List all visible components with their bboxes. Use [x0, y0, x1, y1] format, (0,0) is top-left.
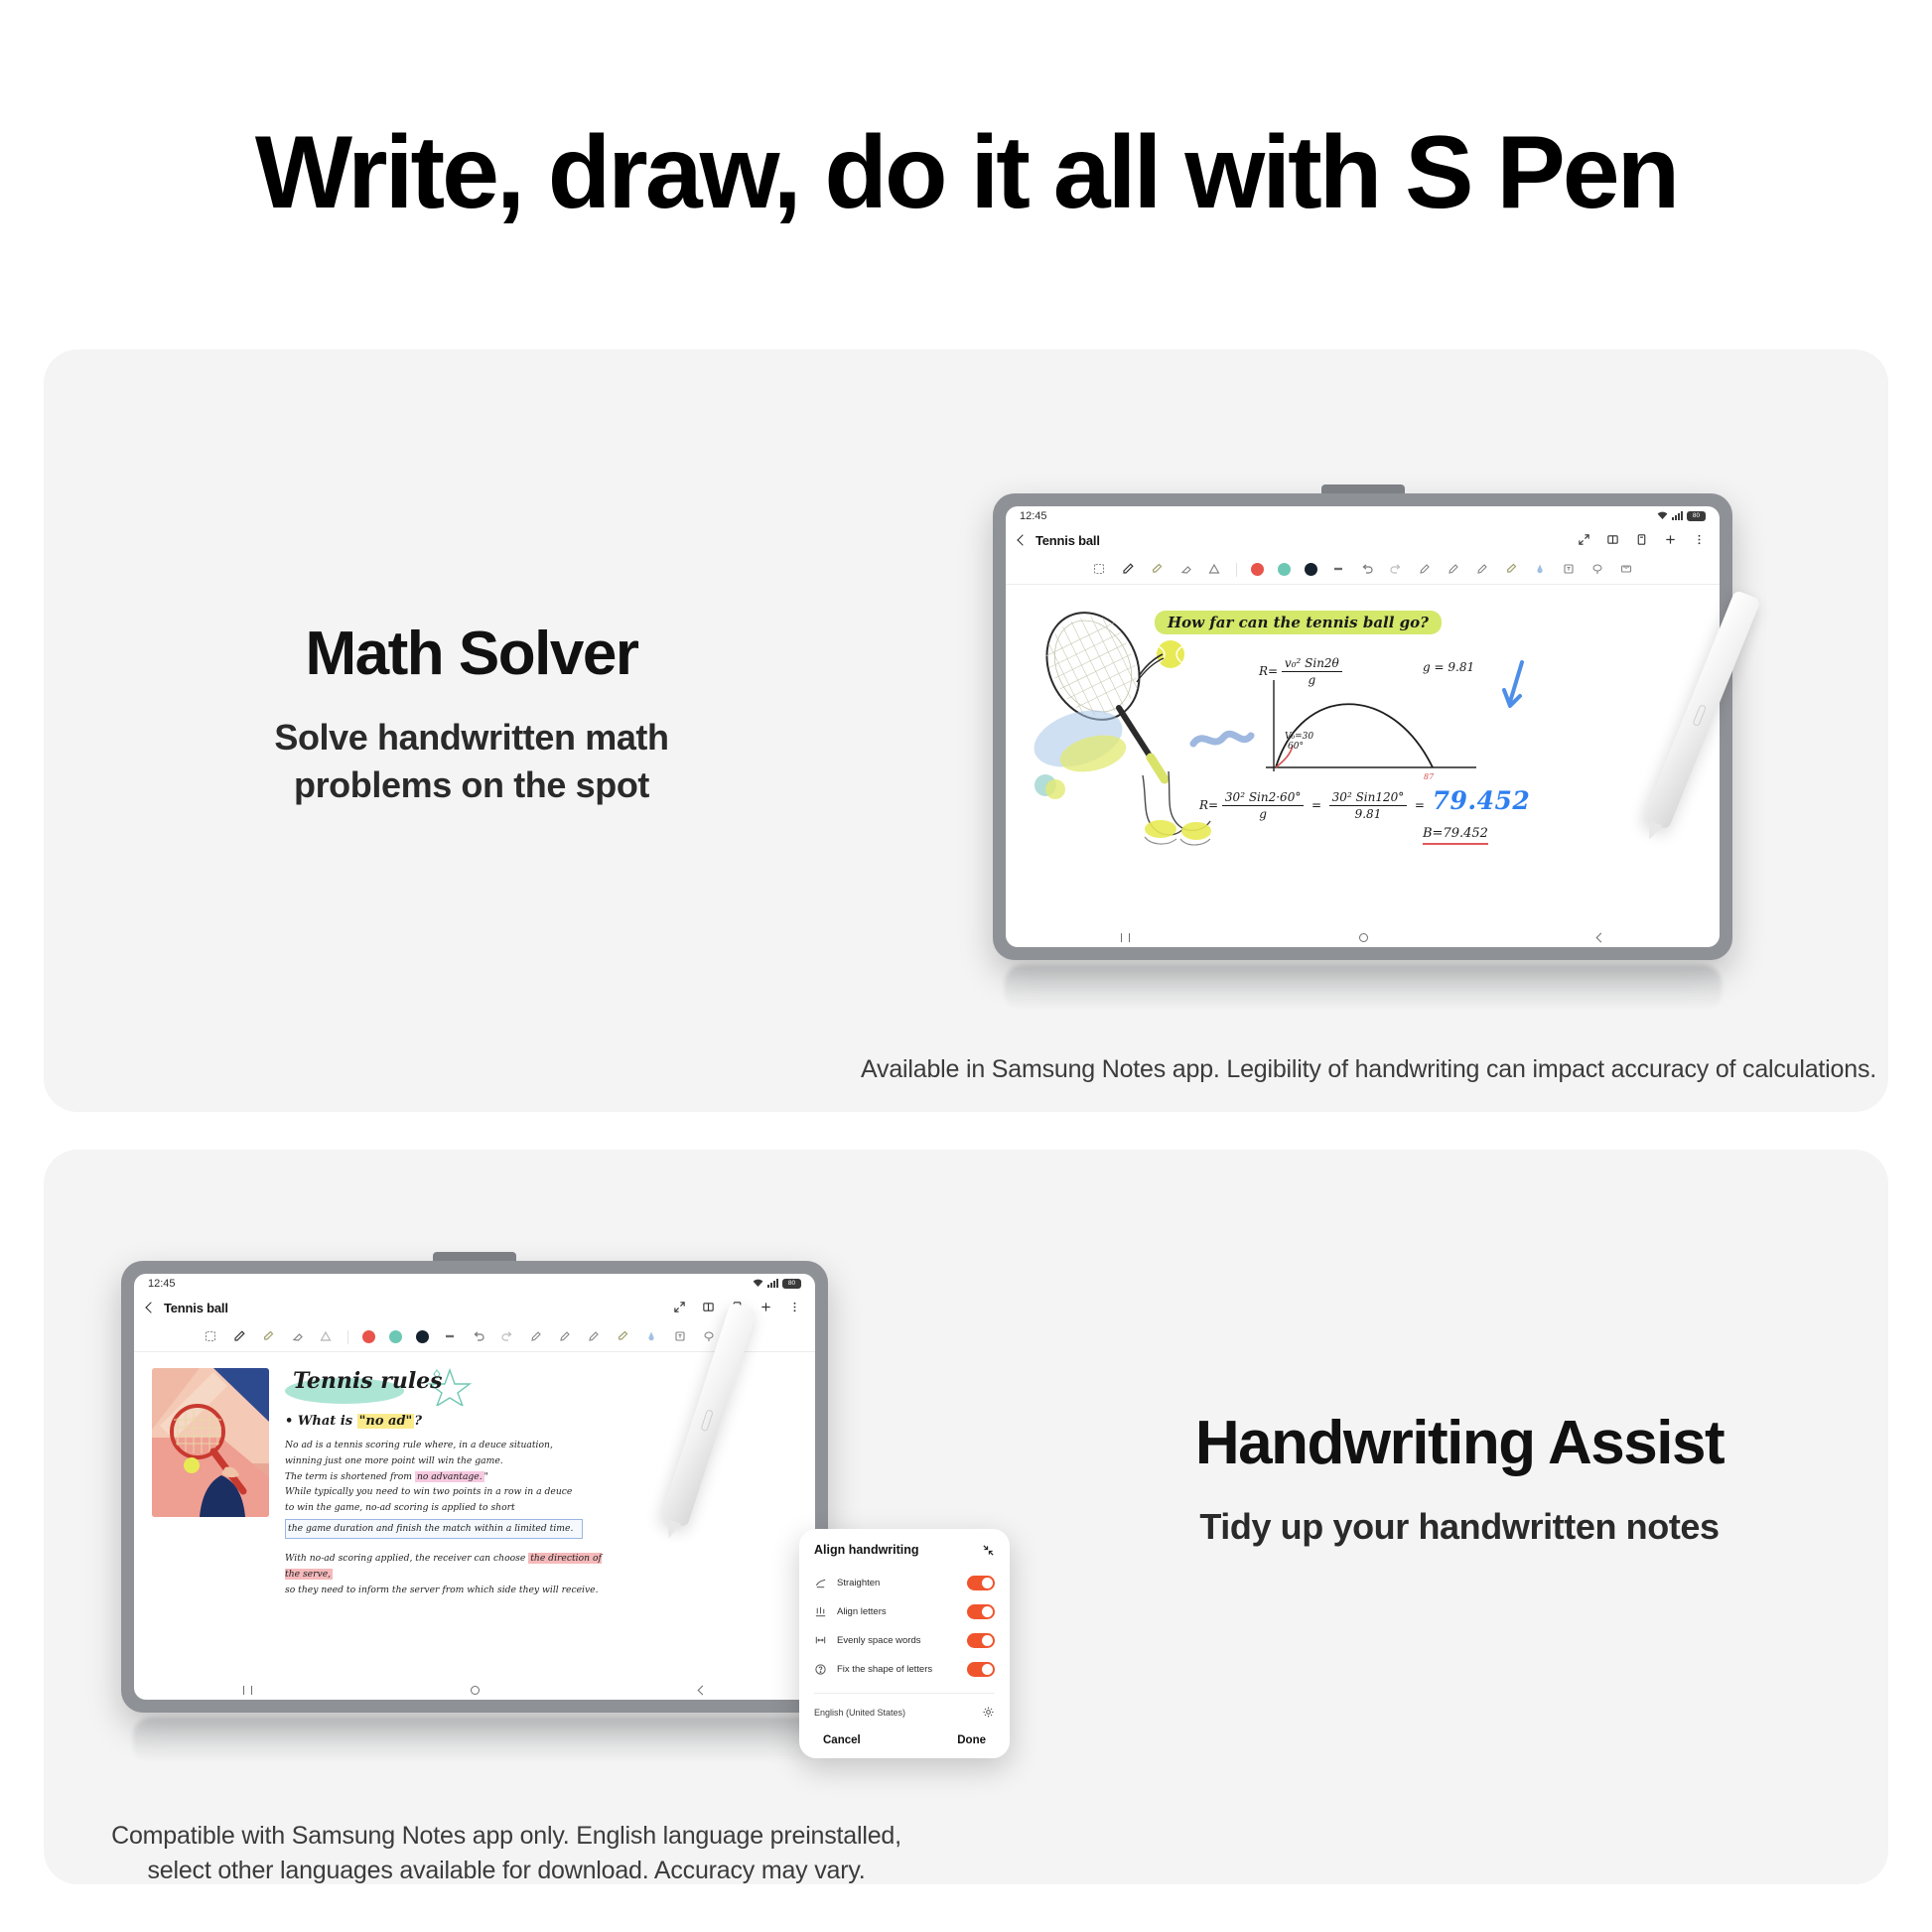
tablet-screen-math: 12:45 80 Tennis ball — [1006, 506, 1720, 947]
expand-icon-2[interactable] — [673, 1301, 687, 1314]
note-header-math: Tennis ball — [1006, 525, 1720, 555]
popup-row-straighten[interactable]: Straighten — [799, 1569, 1010, 1597]
fountain-pen-icon[interactable] — [1533, 562, 1548, 577]
add-icon[interactable] — [1664, 533, 1678, 547]
formula-numerator: v₀² Sin2θ — [1282, 656, 1342, 672]
math-solver-text-block: Math Solver Solve handwritten math probl… — [129, 621, 814, 808]
s-pen-button — [1692, 704, 1707, 727]
note-line-5: to win the game, no-ad scoring is applie… — [285, 1500, 583, 1516]
text-box-icon[interactable] — [1562, 562, 1577, 577]
select-icon-2[interactable] — [204, 1329, 218, 1344]
done-button[interactable]: Done — [957, 1734, 986, 1746]
select-icon[interactable] — [1092, 562, 1107, 577]
handwriting-assist-title: Handwriting Assist — [1067, 1410, 1852, 1477]
note-highlight-phrase: no advantage. — [415, 1471, 484, 1482]
signal-icon-2 — [767, 1279, 778, 1288]
marker-icon-2[interactable] — [616, 1329, 630, 1344]
battery-icon-2: 80 — [782, 1279, 801, 1289]
tablet-reflection-math — [1005, 965, 1722, 1011]
solution-equation: R= 30² Sin2·60° g = 30² Sin120° 9.81 = 7… — [1199, 786, 1530, 821]
back-nav-icon[interactable] — [1596, 932, 1606, 942]
thickness-icon[interactable] — [1331, 562, 1346, 577]
note-header-hw: Tennis ball — [134, 1293, 815, 1322]
equals-2: = — [1411, 798, 1429, 812]
undo-icon-2[interactable] — [472, 1329, 486, 1344]
text-box-icon-2[interactable] — [673, 1329, 688, 1344]
recents-icon[interactable] — [1121, 933, 1130, 942]
add-icon-2[interactable] — [759, 1301, 773, 1314]
toolbar-divider — [1236, 563, 1237, 577]
back-icon[interactable] — [1017, 534, 1028, 545]
solution-result: 79.452 — [1433, 786, 1531, 815]
velocity-label: V₀=30 — [1285, 732, 1313, 742]
ruler-icon[interactable] — [1619, 562, 1634, 577]
tablet-reflection-hw — [133, 1718, 818, 1763]
redo-icon-2[interactable] — [500, 1329, 515, 1344]
toggle-fix-shape[interactable] — [967, 1662, 995, 1677]
toggle-align-letters[interactable] — [967, 1604, 995, 1619]
popup-language-label: English (United States) — [814, 1708, 905, 1718]
color-swatch-black[interactable] — [1305, 563, 1317, 576]
pen-settings-1-icon[interactable] — [1418, 562, 1433, 577]
projectile-graph: 87 — [1262, 676, 1490, 785]
note-heading: Tennis rules — [293, 1368, 443, 1394]
thickness-icon-2[interactable] — [443, 1329, 458, 1344]
s-pen-button-2 — [700, 1409, 713, 1432]
popup-actions: Cancel Done — [799, 1728, 1010, 1750]
split-view-icon-2[interactable] — [702, 1301, 716, 1314]
popup-header: Align handwriting — [799, 1543, 1010, 1569]
redo-icon[interactable] — [1389, 562, 1404, 577]
more-options-icon-2[interactable] — [788, 1301, 802, 1314]
note-toolbar-math — [1006, 555, 1720, 585]
status-indicators-2: 80 — [753, 1279, 801, 1289]
back-nav-icon-2[interactable] — [697, 1685, 707, 1695]
popup-divider — [814, 1693, 995, 1694]
popup-language-row[interactable]: English (United States) — [799, 1698, 1010, 1728]
back-icon-2[interactable] — [145, 1302, 156, 1312]
gear-icon[interactable] — [982, 1706, 995, 1719]
status-time-2: 12:45 — [148, 1278, 176, 1290]
camera-bump-2 — [433, 1252, 516, 1261]
bullet-highlight: "no ad" — [357, 1414, 415, 1429]
signal-icon — [1672, 511, 1683, 520]
pen-settings-3-icon[interactable] — [1475, 562, 1490, 577]
status-bar-hw: 12:45 80 — [134, 1274, 815, 1293]
solution-fraction-1: 30² Sin2·60° g — [1222, 790, 1304, 821]
note-toolbar-hw — [134, 1322, 815, 1352]
tablet-device-math-solver: 12:45 80 Tennis ball — [993, 493, 1732, 960]
home-icon-2[interactable] — [471, 1686, 480, 1695]
velocity-angle-labels: V₀=30 60° — [1285, 732, 1313, 752]
color-swatch-teal[interactable] — [1278, 563, 1291, 576]
align-handwriting-popup: Align handwriting Straighten Align lette… — [799, 1529, 1010, 1758]
highlighter-icon-2[interactable] — [261, 1329, 276, 1344]
wifi-icon — [1657, 511, 1668, 520]
fountain-pen-icon-2[interactable] — [644, 1329, 659, 1344]
more-options-icon[interactable] — [1693, 533, 1707, 547]
recents-icon-2[interactable] — [243, 1686, 252, 1695]
svg-text:87: 87 — [1424, 772, 1435, 781]
bullet-prefix: • What is — [285, 1414, 357, 1429]
note-title-math: Tennis ball — [1035, 533, 1100, 548]
color-swatch-teal-2[interactable] — [389, 1330, 402, 1343]
color-swatch-red-2[interactable] — [362, 1330, 375, 1343]
toggle-straighten[interactable] — [967, 1576, 995, 1590]
shape-icon[interactable] — [1207, 562, 1222, 577]
highlighter-icon[interactable] — [1150, 562, 1165, 577]
bullet-suffix: ? — [414, 1414, 422, 1429]
pen-icon-2[interactable] — [232, 1329, 247, 1344]
solution-num-2: 30² Sin120° — [1329, 790, 1408, 806]
wifi-icon-2 — [753, 1279, 763, 1288]
math-solver-subtitle-line2: problems on the spot — [129, 761, 814, 809]
popup-label-fix-shape: Fix the shape of letters — [837, 1664, 957, 1675]
popup-label-straighten: Straighten — [837, 1578, 957, 1588]
undo-icon[interactable] — [1360, 562, 1375, 577]
nav-bar-hw — [134, 1680, 815, 1700]
note-line-4: While typically you need to win two poin… — [285, 1484, 583, 1500]
marker-icon[interactable] — [1504, 562, 1519, 577]
hw-disclaimer-line2: select other languages available for dow… — [60, 1854, 953, 1888]
angle-label: 60° — [1288, 742, 1313, 752]
note-line-7: so they need to inform the server from w… — [285, 1583, 603, 1598]
color-swatch-black-2[interactable] — [416, 1330, 429, 1343]
solution-den-1: g — [1259, 806, 1267, 821]
tablet-screen-hw: 12:45 80 Tennis ball — [134, 1274, 815, 1700]
solution-boxed-answer: B=79.452 — [1423, 826, 1488, 841]
pen-settings-3-icon-2[interactable] — [587, 1329, 602, 1344]
camera-bump — [1321, 484, 1405, 493]
toggle-evenly-space[interactable] — [967, 1633, 995, 1648]
eraser-icon[interactable] — [1178, 562, 1193, 577]
note-paragraph-2: With no-ad scoring applied, the receiver… — [285, 1551, 603, 1597]
math-solver-subtitle-line1: Solve handwritten math — [129, 714, 814, 761]
pen-settings-2-icon-2[interactable] — [558, 1329, 573, 1344]
equals-1: = — [1308, 798, 1325, 812]
status-indicators: 80 — [1657, 511, 1706, 521]
home-icon[interactable] — [1359, 933, 1368, 942]
math-solver-disclaimer: Available in Samsung Notes app. Legibili… — [784, 1052, 1876, 1087]
note-line-6: With no-ad scoring applied, the receiver… — [285, 1551, 603, 1583]
question-banner: How far can the tennis ball go? — [1155, 611, 1442, 634]
align-letters-icon — [814, 1605, 827, 1618]
collapse-icon[interactable] — [982, 1544, 995, 1557]
eraser-icon-2[interactable] — [290, 1329, 305, 1344]
status-time: 12:45 — [1020, 510, 1047, 522]
solution-boxed-text: B=79.452 — [1423, 826, 1488, 845]
cancel-button[interactable]: Cancel — [823, 1734, 861, 1746]
popup-row-evenly-space[interactable]: Evenly space words — [799, 1626, 1010, 1655]
status-bar-math: 12:45 80 — [1006, 506, 1720, 525]
popup-row-fix-shape[interactable]: Fix the shape of letters — [799, 1655, 1010, 1684]
pen-settings-2-icon[interactable] — [1447, 562, 1461, 577]
solution-den-2: 9.81 — [1355, 806, 1382, 821]
straighten-icon — [814, 1577, 827, 1589]
math-solver-subtitle: Solve handwritten math problems on the s… — [129, 714, 814, 808]
popup-title: Align handwriting — [814, 1543, 919, 1557]
note-line-1: No ad is a tennis scoring rule where, in… — [285, 1438, 583, 1453]
handwriting-assist-text-block: Handwriting Assist Tidy up your handwrit… — [1067, 1410, 1852, 1551]
battery-icon: 80 — [1687, 511, 1706, 521]
pen-icon[interactable] — [1121, 562, 1136, 577]
save-icon[interactable] — [1635, 533, 1649, 547]
math-solver-title: Math Solver — [129, 621, 814, 688]
tennis-illustration — [152, 1368, 269, 1517]
lasso-icon[interactable] — [1590, 562, 1605, 577]
note-title-hw: Tennis ball — [164, 1301, 228, 1315]
fix-shape-icon — [814, 1663, 827, 1676]
popup-row-align-letters[interactable]: Align letters — [799, 1597, 1010, 1626]
solution-fraction-2: 30² Sin120° 9.81 — [1329, 790, 1408, 821]
toolbar-divider-2 — [347, 1330, 348, 1344]
lasso-icon-2[interactable] — [702, 1329, 717, 1344]
tennis-ball-doodle — [1135, 632, 1204, 688]
hw-disclaimer-line1: Compatible with Samsung Notes app only. … — [60, 1819, 953, 1854]
gravity-value: g = 9.81 — [1423, 660, 1474, 674]
note-bullet-question: • What is "no ad"? — [285, 1414, 422, 1429]
split-view-icon[interactable] — [1606, 533, 1620, 547]
popup-label-align-letters: Align letters — [837, 1606, 957, 1617]
selected-text-line[interactable]: the game duration and finish the match w… — [285, 1519, 583, 1539]
evenly-space-icon — [814, 1634, 827, 1647]
solution-prefix: R= — [1199, 798, 1218, 812]
solution-num-1: 30² Sin2·60° — [1222, 790, 1304, 806]
popup-label-evenly-space: Evenly space words — [837, 1635, 957, 1646]
handwriting-assist-subtitle: Tidy up your handwritten notes — [1067, 1503, 1852, 1551]
nav-bar-math — [1006, 927, 1720, 947]
note-line-2: winning just one more point will win the… — [285, 1453, 583, 1469]
note-header-actions — [1578, 533, 1707, 547]
shape-icon-2[interactable] — [319, 1329, 334, 1344]
handwriting-assist-disclaimer: Compatible with Samsung Notes app only. … — [60, 1819, 953, 1888]
color-swatch-red[interactable] — [1251, 563, 1264, 576]
marketing-page: Write, draw, do it all with S Pen Math S… — [0, 0, 1932, 1932]
expand-icon[interactable] — [1578, 533, 1591, 547]
blue-arrow-doodle — [1502, 658, 1536, 716]
note-highlight-phrase-2: the direction of the serve, — [285, 1553, 602, 1580]
pen-settings-1-icon-2[interactable] — [529, 1329, 544, 1344]
page-headline: Write, draw, do it all with S Pen — [0, 119, 1932, 227]
note-line-3: The term is shortened from no advantage.… — [285, 1469, 583, 1485]
note-paragraph: No ad is a tennis scoring rule where, in… — [285, 1438, 583, 1539]
note-canvas-math[interactable]: How far can the tennis ball go? R= v₀² S… — [1006, 585, 1720, 927]
